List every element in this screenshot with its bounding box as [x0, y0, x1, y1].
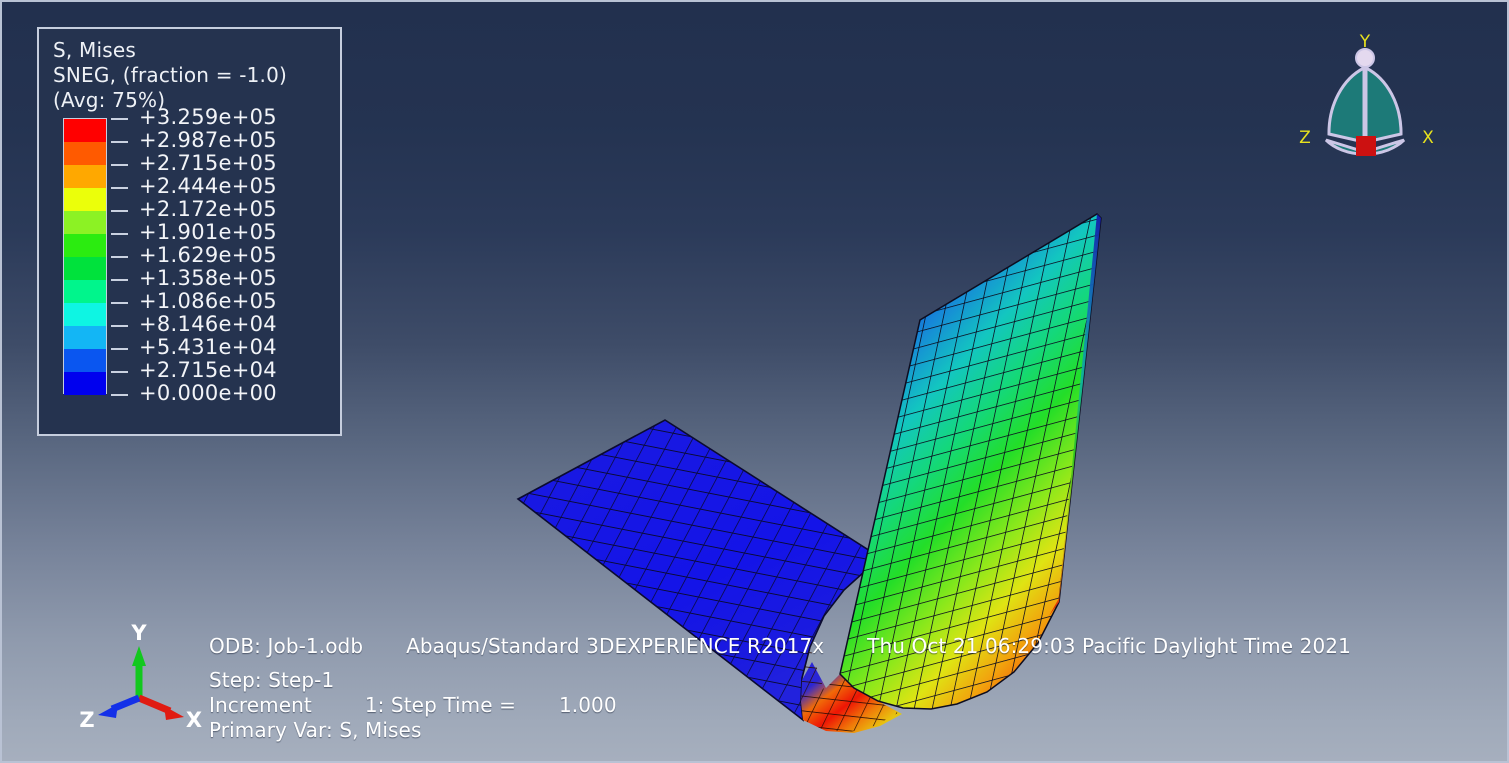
increment-label: Increment: [209, 693, 312, 717]
odb-value: Job-1.odb: [267, 634, 363, 658]
step-value: Step-1: [268, 668, 334, 692]
view-compass[interactable]: Y X Z: [1294, 30, 1440, 176]
legend-swatch-7: [64, 280, 106, 303]
legend-swatch-0: [64, 119, 106, 142]
legend-value-12: +0.000e+00: [139, 382, 277, 405]
step-label: Step:: [209, 668, 262, 692]
legend-tick-11: [111, 371, 128, 373]
primary-var-label: Primary Var:: [209, 718, 333, 742]
legend-value-9: +8.146e+04: [139, 313, 277, 336]
legend-value-6: +1.629e+05: [139, 244, 277, 267]
legend-value-10: +5.431e+04: [139, 336, 277, 359]
triad-z-axis: [98, 698, 139, 718]
legend-tick-0: [111, 118, 128, 120]
legend-swatch-8: [64, 303, 106, 326]
triad-label-x: X: [186, 708, 202, 732]
legend-value-1: +2.987e+05: [139, 129, 277, 152]
legend-value-7: +1.358e+05: [139, 267, 277, 290]
abaqus-viewport[interactable]: S, Mises SNEG, (fraction = -1.0) (Avg: 7…: [0, 0, 1509, 763]
increment-value: 1: Step Time =: [365, 693, 516, 717]
triad-label-y: Y: [130, 621, 147, 645]
triad-x-axis: [139, 698, 184, 720]
legend-title: S, Mises: [53, 38, 340, 62]
legend-value-8: +1.086e+05: [139, 290, 277, 313]
compass-petal-left[interactable]: [1329, 68, 1364, 142]
compass-petal-right[interactable]: [1366, 68, 1401, 142]
legend-swatch-1: [64, 142, 106, 165]
legend-value-5: +1.901e+05: [139, 221, 277, 244]
legend-value-column: +3.259e+05+2.987e+05+2.715e+05+2.444e+05…: [139, 106, 277, 405]
legend-tick-3: [111, 187, 128, 189]
legend-swatch-10: [64, 349, 106, 372]
solver-version: Abaqus/Standard 3DEXPERIENCE R2017x: [406, 634, 824, 658]
info-line-odb: ODB: Job-1.odb Abaqus/Standard 3DEXPERIE…: [209, 634, 1351, 659]
contour-legend: S, Mises SNEG, (fraction = -1.0) (Avg: 7…: [37, 27, 342, 436]
triad-y-axis: [132, 646, 146, 698]
legend-tick-2: [111, 164, 128, 166]
legend-tick-5: [111, 233, 128, 235]
legend-tick-6: [111, 256, 128, 258]
axis-triad: Y X Z: [74, 614, 204, 744]
compass-label-x: X: [1422, 128, 1434, 148]
info-line-increment: Increment 1: Step Time = 1.000: [209, 693, 1351, 718]
step-time-value: 1.000: [559, 693, 617, 717]
legend-header: S, Mises SNEG, (fraction = -1.0) (Avg: 7…: [39, 29, 340, 112]
legend-swatch-4: [64, 211, 106, 234]
legend-value-11: +2.715e+04: [139, 359, 277, 382]
triad-label-z: Z: [79, 708, 94, 732]
legend-swatch-5: [64, 234, 106, 257]
legend-tick-7: [111, 279, 128, 281]
compass-center-square[interactable]: [1356, 136, 1376, 156]
legend-tick-4: [111, 210, 128, 212]
legend-tick-1: [111, 141, 128, 143]
legend-swatch-11: [64, 372, 106, 395]
legend-swatch-2: [64, 165, 106, 188]
legend-tick-10: [111, 348, 128, 350]
legend-subtitle: SNEG, (fraction = -1.0): [53, 63, 340, 87]
info-line-primary-var: Primary Var: S, Mises: [209, 718, 1351, 743]
legend-color-ramp: +3.259e+05+2.987e+05+2.715e+05+2.444e+05…: [39, 118, 340, 401]
legend-value-4: +2.172e+05: [139, 198, 277, 221]
legend-swatch-6: [64, 257, 106, 280]
legend-swatch-column: [63, 118, 107, 394]
odb-label: ODB:: [209, 634, 261, 658]
legend-tick-8: [111, 302, 128, 304]
legend-tick-12: [111, 394, 128, 396]
status-info-block: ODB: Job-1.odb Abaqus/Standard 3DEXPERIE…: [209, 634, 1351, 743]
legend-swatch-3: [64, 188, 106, 211]
legend-tick-column: [107, 118, 131, 394]
legend-value-0: +3.259e+05: [139, 106, 277, 129]
legend-value-3: +2.444e+05: [139, 175, 277, 198]
legend-value-2: +2.715e+05: [139, 152, 277, 175]
legend-tick-9: [111, 325, 128, 327]
analysis-timestamp: Thu Oct 21 06:29:03 Pacific Daylight Tim…: [867, 634, 1351, 658]
info-line-step: Step: Step-1: [209, 668, 1351, 693]
compass-label-z: Z: [1299, 128, 1311, 148]
compass-label-y: Y: [1359, 32, 1371, 52]
primary-var-value: S, Mises: [339, 718, 421, 742]
legend-swatch-9: [64, 326, 106, 349]
